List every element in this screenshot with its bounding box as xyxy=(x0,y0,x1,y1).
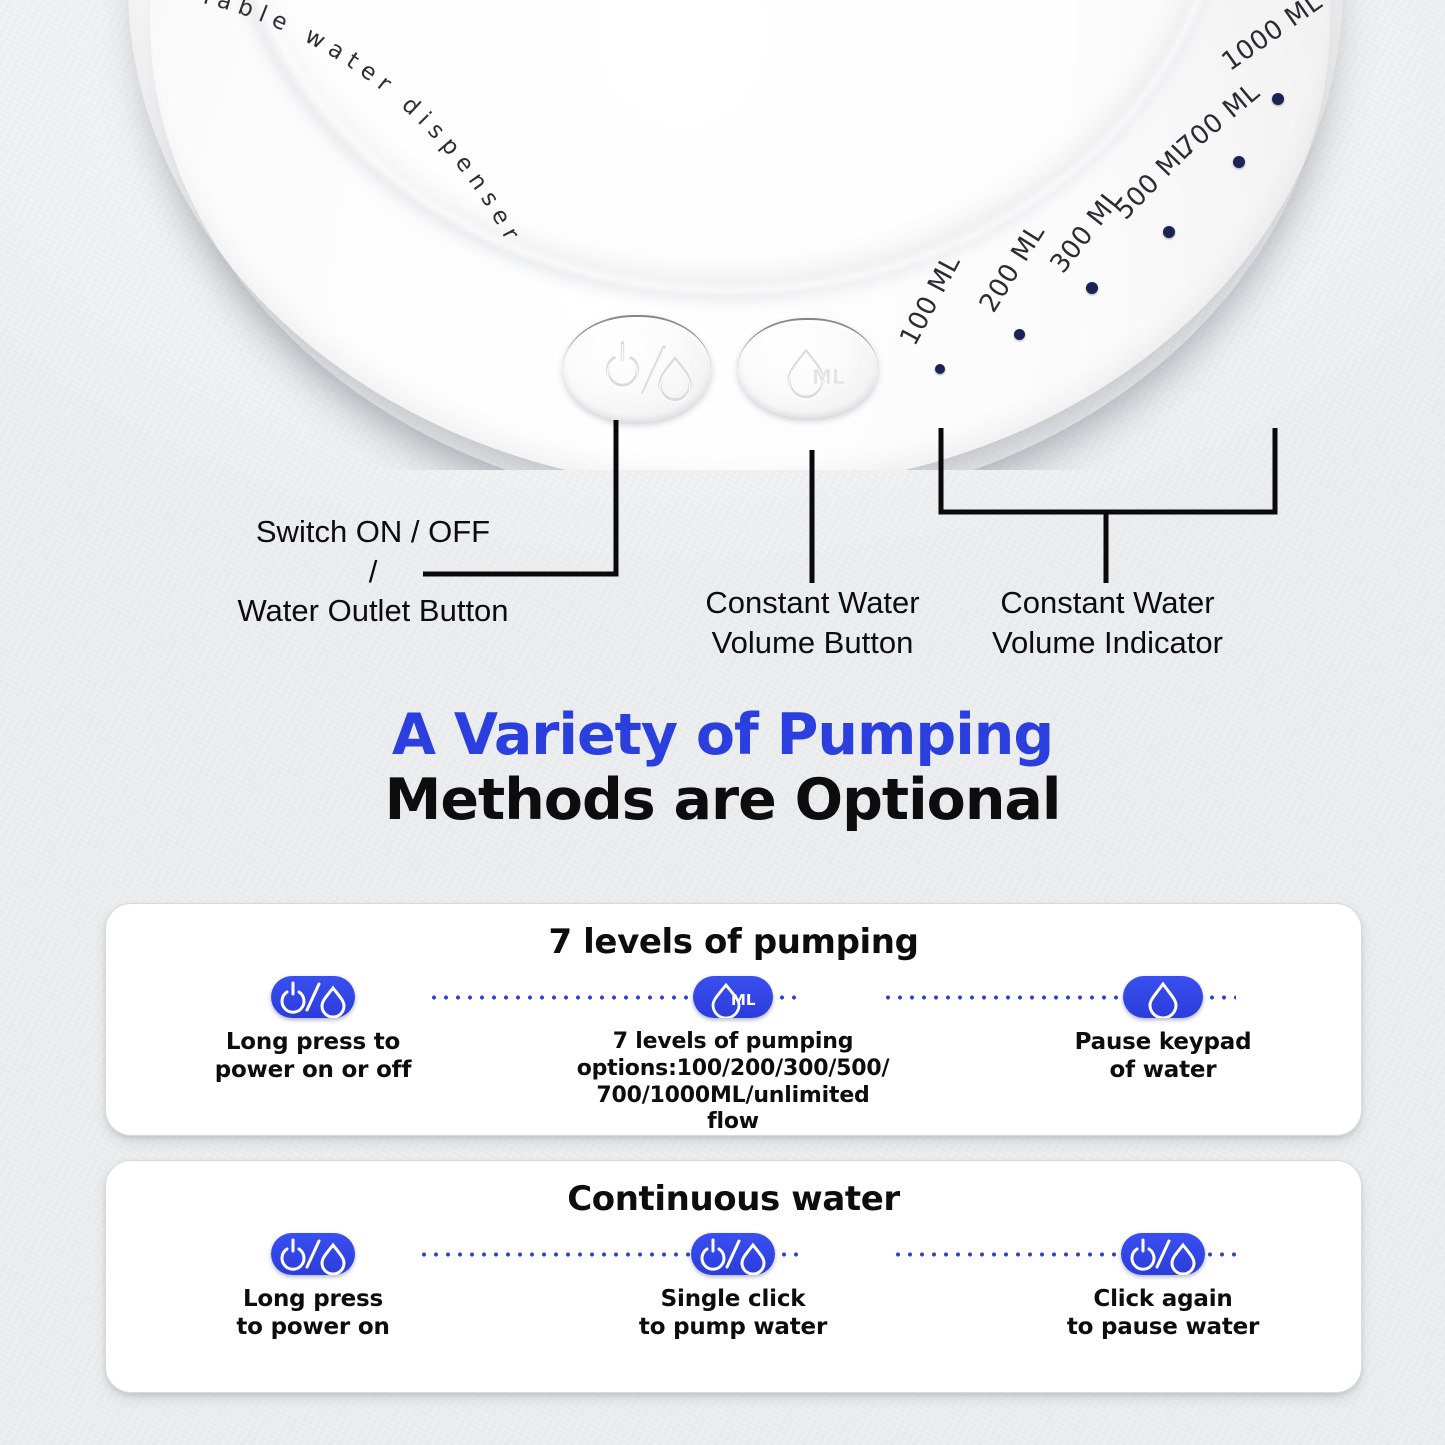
svg-text:Table water dispenser: Table water dispenser xyxy=(196,0,527,251)
step-label: Long press to power on or off xyxy=(148,1029,478,1084)
leader-line-indicator-bracket xyxy=(941,428,1275,512)
step-label: Long press to power on xyxy=(148,1286,478,1341)
card-continuous-water: Continuous water Long press to power on xyxy=(105,1160,1362,1393)
callout-volume-button: Constant Water Volume Button xyxy=(650,583,975,662)
step-pause: Pause keypad of water xyxy=(998,976,1328,1084)
step-label: Single click to pump water xyxy=(568,1286,898,1341)
card-steps: Long press to power on Single click to p… xyxy=(106,1233,1361,1393)
card-title: 7 levels of pumping xyxy=(106,922,1361,962)
step-label: Pause keypad of water xyxy=(998,1029,1328,1084)
step-power: Long press to power on or off xyxy=(148,976,478,1084)
power-slash-droplet-icon[interactable] xyxy=(1121,1233,1205,1275)
step-click-again: Click again to pause water xyxy=(998,1233,1328,1341)
power-slash-droplet-icon[interactable] xyxy=(271,1233,355,1275)
ml-label: ML xyxy=(731,991,756,1009)
volume-indicator-dot-700 xyxy=(1233,156,1245,168)
step-label: Click again to pause water xyxy=(998,1286,1328,1341)
callout-power: Switch ON / OFF / Water Outlet Button xyxy=(178,512,568,631)
card-title: Continuous water xyxy=(106,1179,1361,1219)
power-slash-droplet-icon[interactable] xyxy=(271,976,355,1018)
volume-indicator-dot-300 xyxy=(1086,282,1098,294)
droplet-ml-icon[interactable]: ML xyxy=(693,976,773,1018)
callout-volume-indicator: Constant Water Volume Indicator xyxy=(945,583,1270,662)
volume-indicator-dot-500 xyxy=(1163,226,1175,238)
step-label: 7 levels of pumping options:100/200/300/… xyxy=(568,1029,898,1136)
card-seven-levels: 7 levels of pumping Long press to power … xyxy=(105,903,1362,1136)
headline-line-1: A Variety of Pumping xyxy=(0,705,1445,765)
step-power-on: Long press to power on xyxy=(148,1233,478,1341)
brand-text-label: Table water dispenser xyxy=(196,0,527,251)
power-slash-droplet-icon[interactable] xyxy=(691,1233,775,1275)
step-volume: ML 7 levels of pumping options:100/200/3… xyxy=(568,976,898,1136)
droplet-icon[interactable] xyxy=(1123,976,1203,1018)
headline-line-2: Methods are Optional xyxy=(0,770,1445,830)
page-headline: A Variety of Pumping Methods are Optiona… xyxy=(0,705,1445,831)
card-steps: Long press to power on or off ML 7 level… xyxy=(106,976,1361,1136)
volume-indicator-dot-1000 xyxy=(1272,93,1284,105)
step-single-click: Single click to pump water xyxy=(568,1233,898,1341)
